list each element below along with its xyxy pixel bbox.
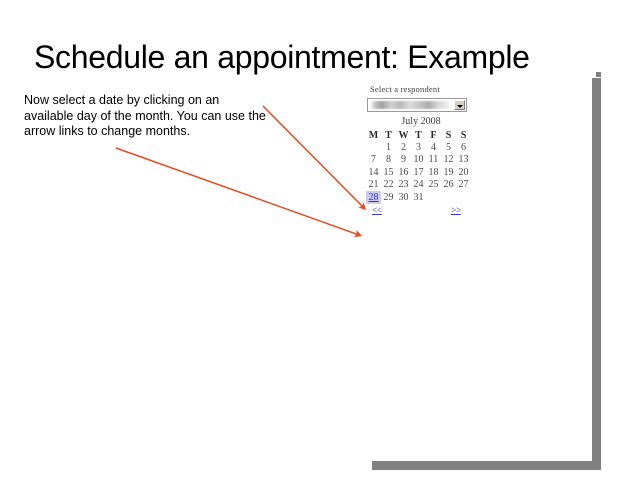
calendar-grid: M T W T F S S 12345678910111213141516171… — [366, 129, 471, 204]
calendar-week-row: 78910111213 — [366, 154, 471, 167]
calendar-day-7: 7 — [366, 154, 381, 167]
calendar-day-13: 13 — [456, 154, 471, 167]
calendar-weekday-wed: W — [396, 129, 411, 141]
page-title: Schedule an appointment: Example — [34, 38, 614, 76]
next-month-link[interactable]: >> — [451, 206, 461, 216]
calendar-weekday-sun: S — [456, 129, 471, 141]
calendar-day-11: 11 — [426, 154, 441, 167]
calendar-day-22: 22 — [381, 179, 396, 192]
calendar-day-1: 1 — [381, 141, 396, 154]
calendar-day-4: 4 — [426, 141, 441, 154]
appointment-calendar-widget: Select a respondent July 2008 M T W T F … — [366, 84, 478, 219]
calendar-week-row: 123456 — [366, 141, 471, 154]
calendar-day-14: 14 — [366, 166, 381, 179]
calendar-body: 1234567891011121314151617181920212223242… — [366, 141, 471, 204]
calendar-day-17: 17 — [411, 166, 426, 179]
calendar-day-9: 9 — [396, 154, 411, 167]
calendar-day-8: 8 — [381, 154, 396, 167]
calendar-day-29: 29 — [381, 191, 396, 204]
calendar-day-26: 26 — [441, 179, 456, 192]
title-resize-handle — [596, 72, 601, 77]
chevron-down-icon[interactable] — [454, 100, 465, 110]
slide-frame-shadow-bottom — [372, 461, 601, 470]
calendar-weekday-mon: M — [366, 129, 381, 141]
calendar-day-available-28[interactable]: 28 — [366, 191, 381, 204]
calendar-navigation: << >> — [366, 206, 471, 219]
arrow-to-month-nav-links — [116, 148, 358, 235]
calendar-day-empty — [441, 191, 456, 204]
calendar-day-18: 18 — [426, 166, 441, 179]
calendar-weekday-sat: S — [441, 129, 456, 141]
calendar-week-row: 14151617181920 — [366, 166, 471, 179]
calendar-day-30: 30 — [396, 191, 411, 204]
calendar-weekday-header-row: M T W T F S S — [366, 129, 471, 141]
calendar-weekday-tue: T — [381, 129, 396, 141]
calendar-day-24: 24 — [411, 179, 426, 192]
calendar-day-3: 3 — [411, 141, 426, 154]
instruction-text: Now select a date by clicking on an avai… — [24, 93, 269, 140]
calendar-day-6: 6 — [456, 141, 471, 154]
calendar-week-row: 21222324252627 — [366, 179, 471, 192]
calendar-day-25: 25 — [426, 179, 441, 192]
calendar-day-20: 20 — [456, 166, 471, 179]
prev-month-link[interactable]: << — [372, 206, 382, 216]
respondent-select[interactable] — [367, 98, 467, 112]
calendar-day-27: 27 — [456, 179, 471, 192]
respondent-select-value — [371, 101, 449, 109]
calendar-day-2: 2 — [396, 141, 411, 154]
calendar-day-10: 10 — [411, 154, 426, 167]
calendar-day-15: 15 — [381, 166, 396, 179]
calendar-day-empty — [456, 191, 471, 204]
calendar-day-16: 16 — [396, 166, 411, 179]
calendar-day-21: 21 — [366, 179, 381, 192]
calendar-day-empty — [426, 191, 441, 204]
slide-frame-shadow-right — [592, 78, 601, 463]
calendar-day-19: 19 — [441, 166, 456, 179]
calendar-weekday-thu: T — [411, 129, 426, 141]
calendar-day-12: 12 — [441, 154, 456, 167]
calendar-day-empty — [366, 141, 381, 154]
respondent-select-label: Select a respondent — [370, 84, 478, 94]
calendar-weekday-fri: F — [426, 129, 441, 141]
calendar-day-31: 31 — [411, 191, 426, 204]
calendar-week-row: 28293031 — [366, 191, 471, 204]
calendar-month-label: July 2008 — [364, 116, 478, 127]
arrow-to-available-day — [263, 106, 363, 207]
calendar-day-5: 5 — [441, 141, 456, 154]
calendar-day-23: 23 — [396, 179, 411, 192]
